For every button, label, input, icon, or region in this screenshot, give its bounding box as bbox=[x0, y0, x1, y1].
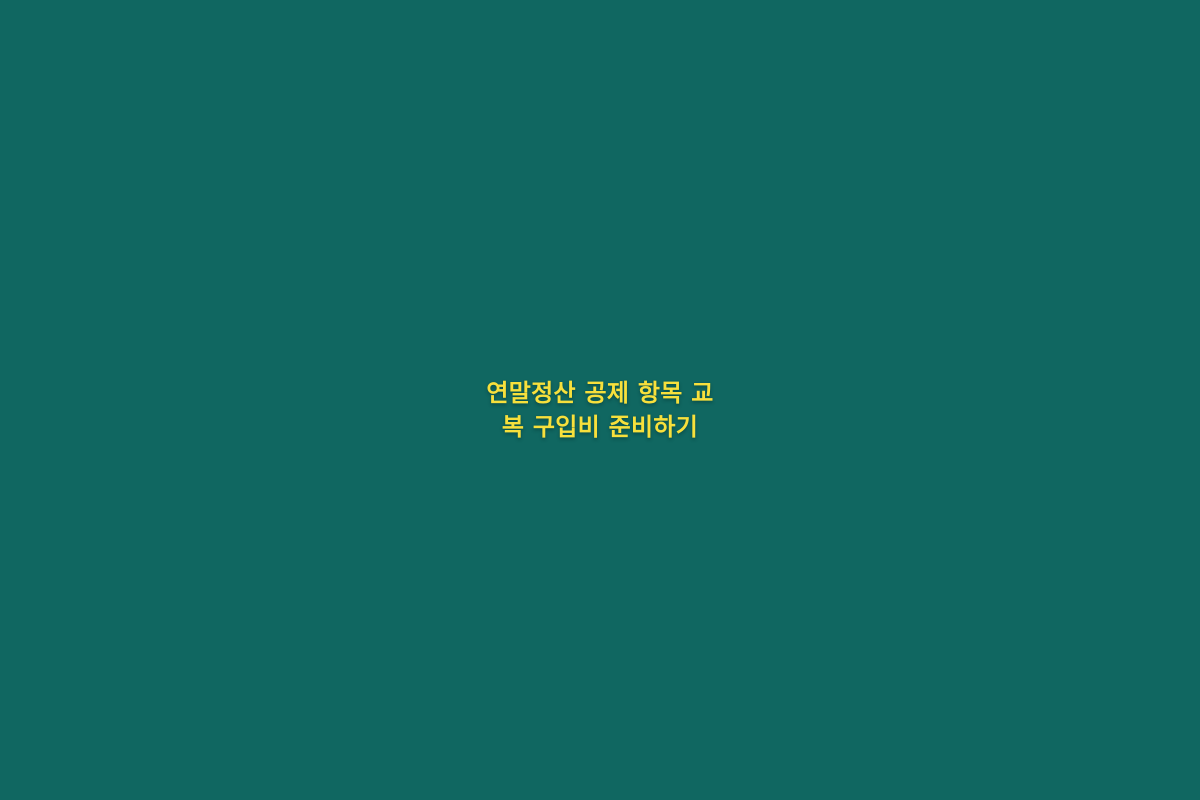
headline-block: 연말정산 공제 항목 교 복 구입비 준비하기 bbox=[0, 376, 1200, 444]
banner-canvas: 연말정산 공제 항목 교 복 구입비 준비하기 bbox=[0, 0, 1200, 800]
headline-line-1: 연말정산 공제 항목 교 bbox=[40, 376, 1160, 410]
headline-line-2: 복 구입비 준비하기 bbox=[40, 410, 1160, 444]
